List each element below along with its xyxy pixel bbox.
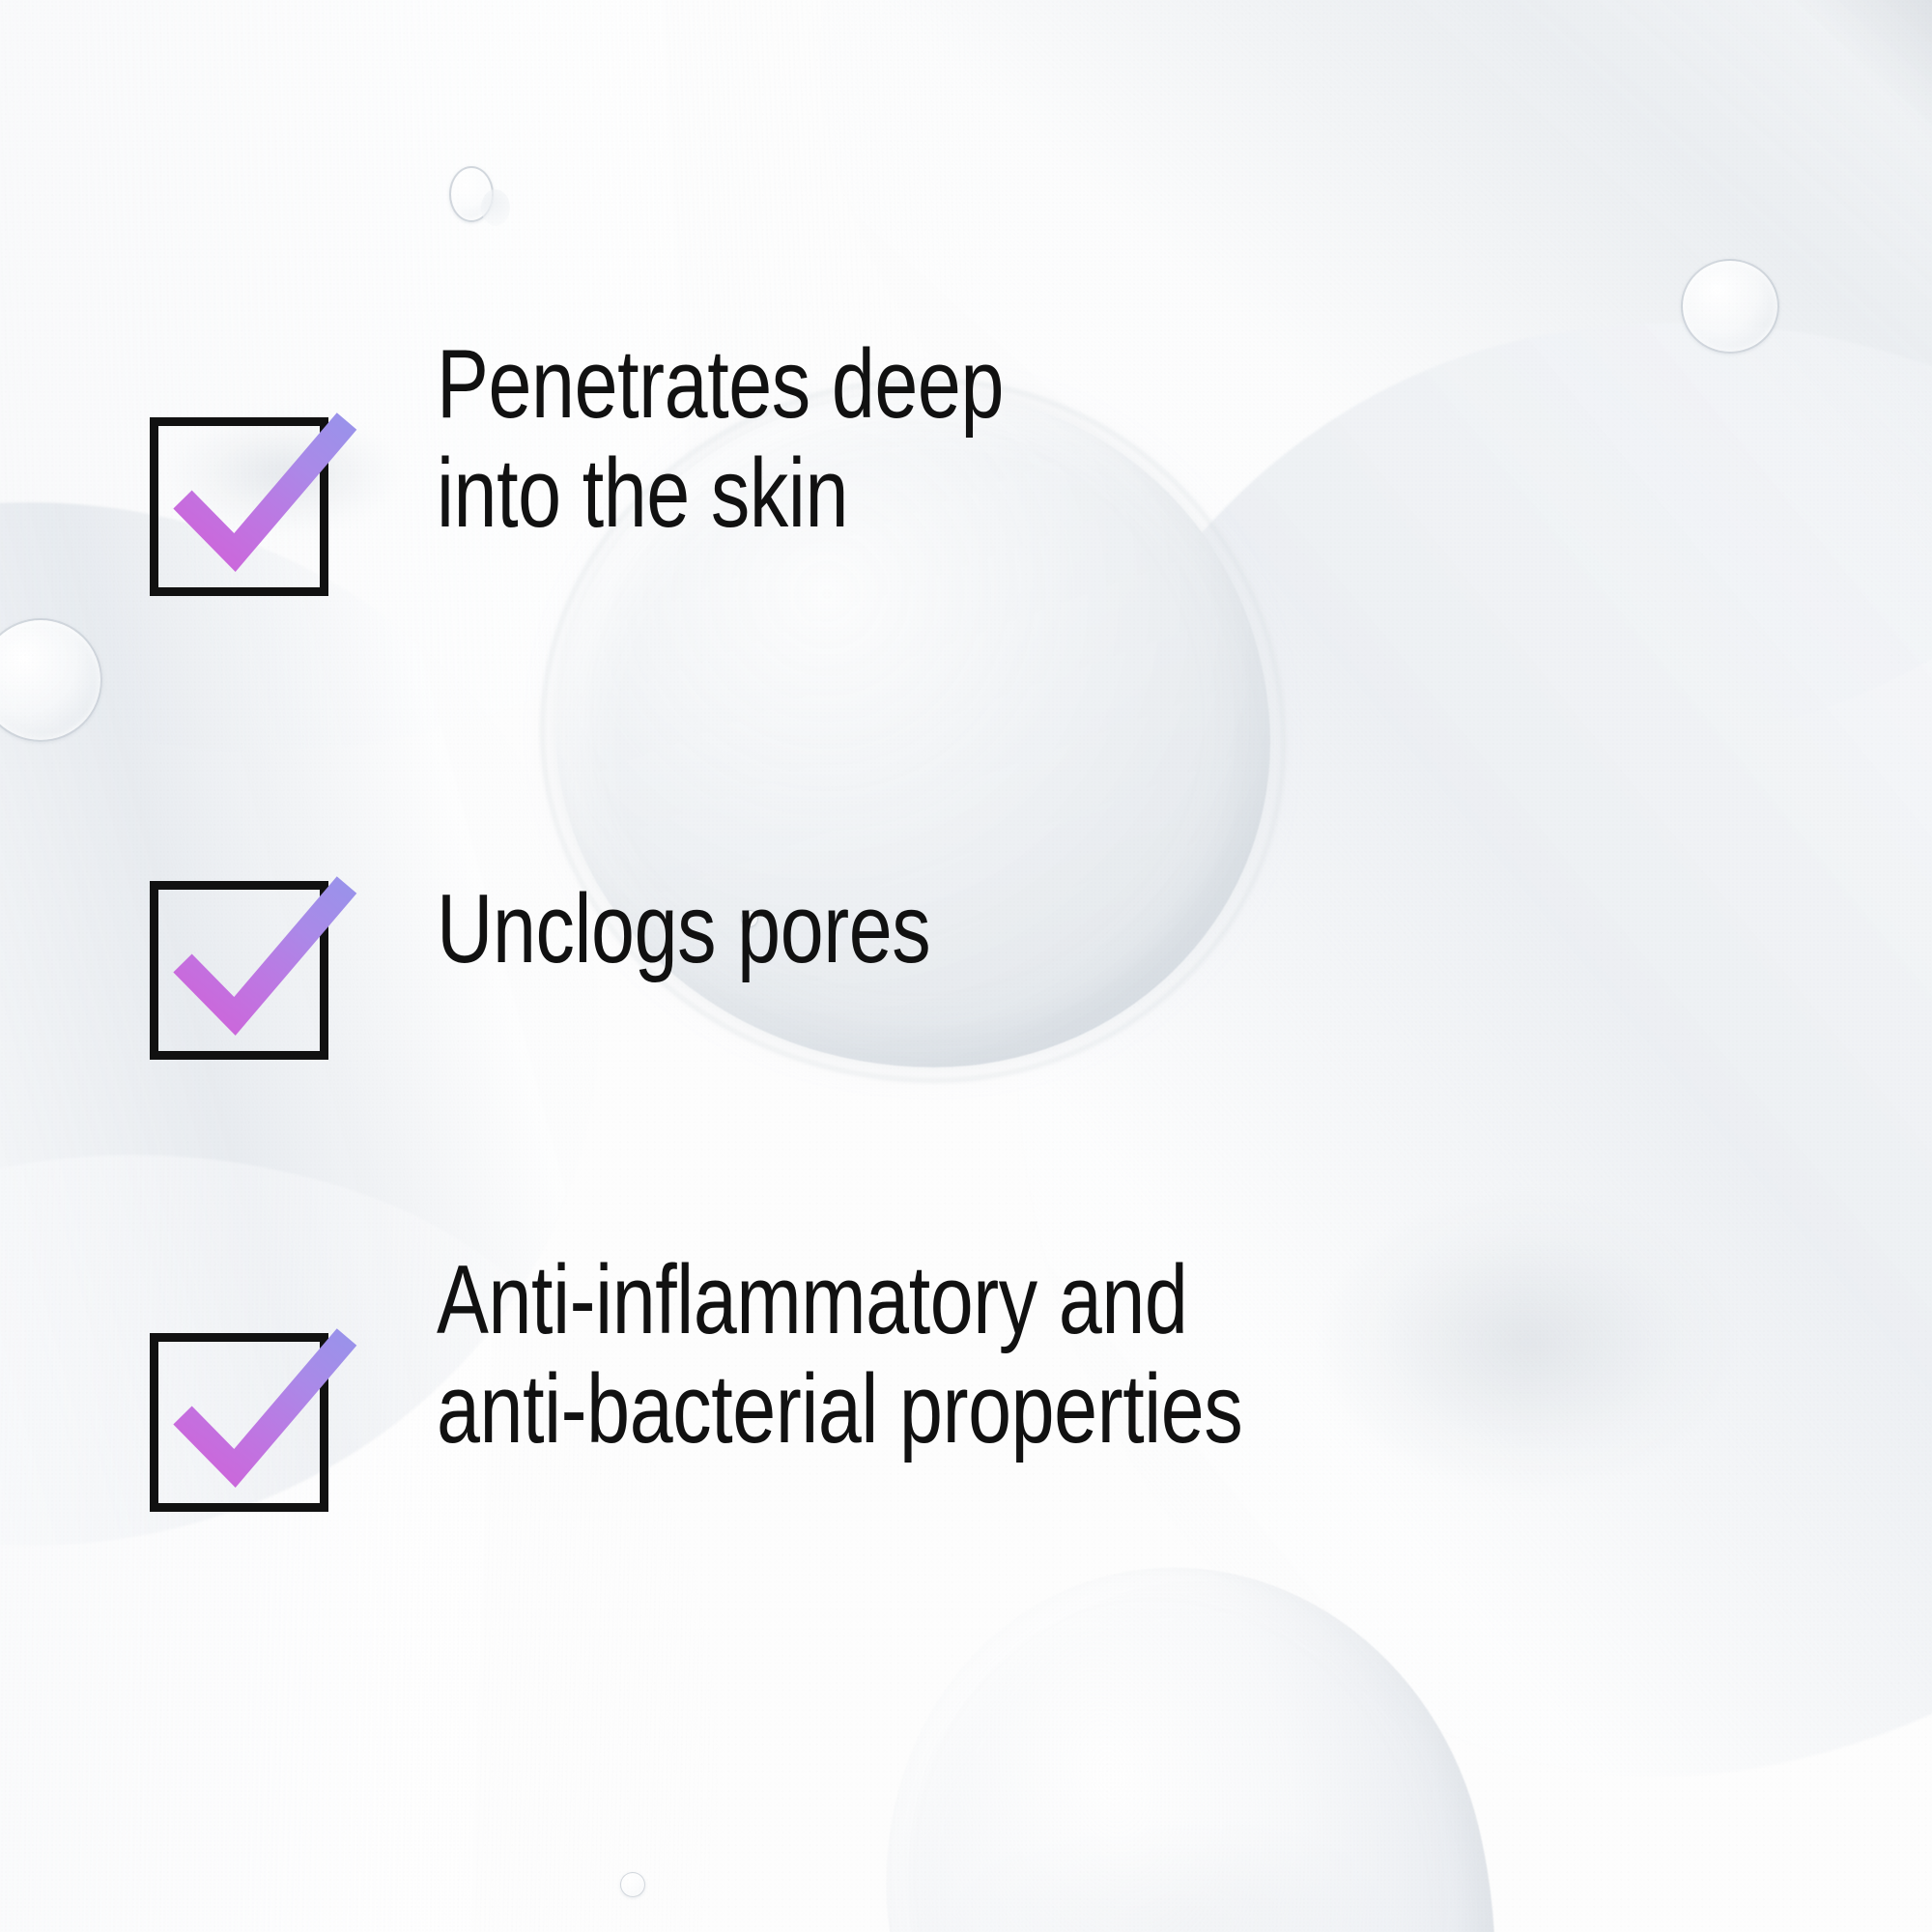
feature-label: Unclogs pores xyxy=(437,875,930,984)
checkbox-anti-inflammatory[interactable] xyxy=(150,1333,333,1517)
feature-item-unclogs-pores: Unclogs pores xyxy=(150,881,1054,1065)
promo-graphic: Penetrates deep into the skin xyxy=(0,0,1932,1932)
checkmark-icon xyxy=(146,1296,368,1519)
checkbox-penetrates-deep[interactable] xyxy=(150,417,333,601)
feature-label: Anti-inflammatory and anti-bacterial pro… xyxy=(437,1246,1242,1464)
checkbox-unclogs-pores[interactable] xyxy=(150,881,333,1065)
feature-item-anti-inflammatory: Anti-inflammatory and anti-bacterial pro… xyxy=(150,1333,1444,1517)
feature-list: Penetrates deep into the skin xyxy=(0,0,1932,1932)
checkmark-icon xyxy=(146,381,368,603)
feature-item-penetrates-deep: Penetrates deep into the skin xyxy=(150,417,1146,601)
feature-label: Penetrates deep into the skin xyxy=(437,330,1004,549)
checkmark-icon xyxy=(146,844,368,1066)
